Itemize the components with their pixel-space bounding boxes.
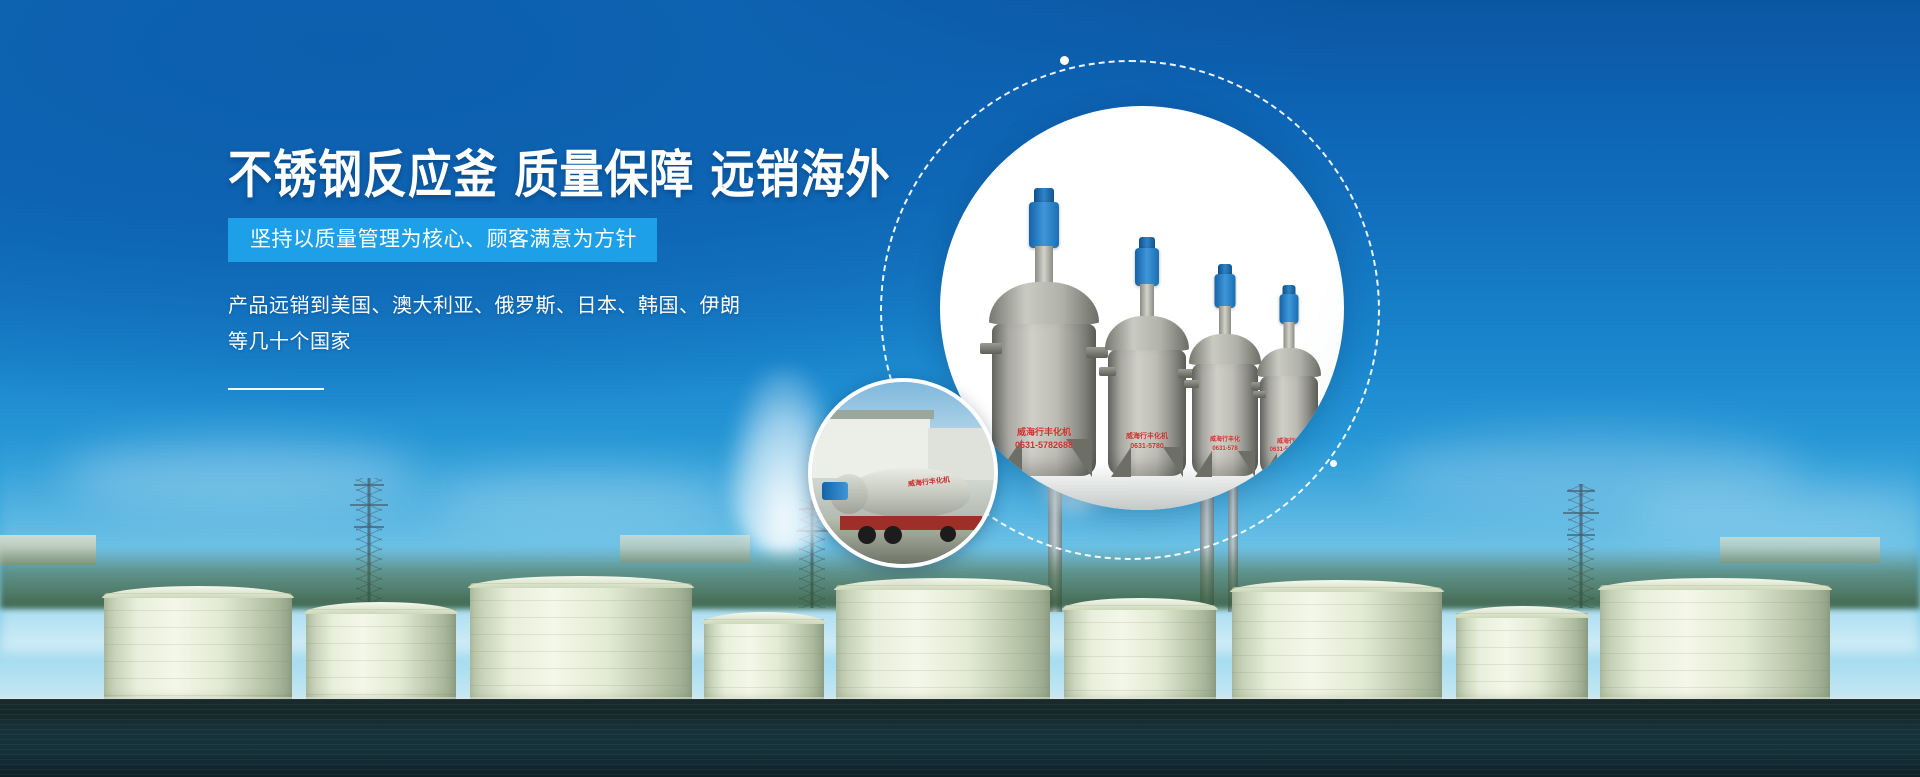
orbit-accent-dot: [1330, 460, 1337, 467]
hero-description: 产品远销到美国、澳大利亚、俄罗斯、日本、韩国、伊朗 等几十个国家: [228, 288, 758, 360]
page-title: 不锈钢反应釜 质量保障 远销海外: [228, 150, 948, 202]
storage-tank: [470, 583, 692, 705]
storage-tank: [836, 585, 1050, 705]
cloud: [430, 470, 730, 528]
hero-banner: 威海行丰化机 0631-5782688 威海行丰化机 0631-5780: [0, 0, 1920, 777]
reactor-label: 威海行丰化: [1210, 437, 1240, 445]
reactor-label: 威海行丰: [1277, 439, 1301, 447]
divider-rule: [228, 388, 324, 390]
storage-tank: [1232, 587, 1442, 705]
tagline-badge: 坚持以质量管理为核心、顾客满意为方针: [228, 218, 657, 262]
oil-tank-farm: [0, 545, 1920, 705]
truck-wheel: [858, 526, 876, 544]
truck-wheel: [940, 526, 956, 542]
storage-tank: [1456, 613, 1588, 705]
reactor-phone: 0631-5780: [1130, 443, 1163, 452]
storage-tank: [104, 593, 292, 705]
reactor-phone: 0631-5782688: [1015, 440, 1073, 451]
reactor-label: 威海行丰化机: [1126, 433, 1168, 442]
reactor-phone: 0631-5780602: [1270, 447, 1309, 455]
product-photo-reactors: 威海行丰化机 0631-5782688 威海行丰化机 0631-5780: [940, 106, 1344, 510]
storage-tank: [704, 619, 824, 705]
reactor-label: 威海行丰化机: [1017, 427, 1071, 438]
water-reflection: [0, 699, 1920, 777]
factory-roof: [812, 410, 934, 419]
reactor-vessel: 威海行丰 0631-5780602: [1260, 276, 1318, 476]
reactor-vessel: 威海行丰化机 0631-5782688: [992, 176, 1096, 476]
product-photo-transport: 威海行丰化机: [808, 378, 998, 568]
reactor-vessel: 威海行丰化 0631-578: [1192, 254, 1258, 476]
reactor-phone: 0631-578: [1212, 446, 1237, 454]
reactor-vessel: 威海行丰化机 0631-5780: [1108, 226, 1186, 476]
reactor-vessel-horizontal: [850, 468, 970, 518]
storage-tank: [1064, 605, 1216, 705]
storage-tank: [1600, 585, 1830, 705]
truck-wheel: [884, 526, 902, 544]
cloud: [1630, 485, 1920, 545]
hero-description-line2: 等几十个国家: [228, 324, 758, 360]
agitator-motor: [822, 482, 848, 500]
hero-copy: 不锈钢反应釜 质量保障 远销海外 坚持以质量管理为核心、顾客满意为方针 产品远销…: [228, 150, 948, 390]
hero-description-line1: 产品远销到美国、澳大利亚、俄罗斯、日本、韩国、伊朗: [228, 288, 758, 324]
storage-tank: [306, 609, 456, 705]
orbit-accent-dot: [1060, 56, 1069, 65]
